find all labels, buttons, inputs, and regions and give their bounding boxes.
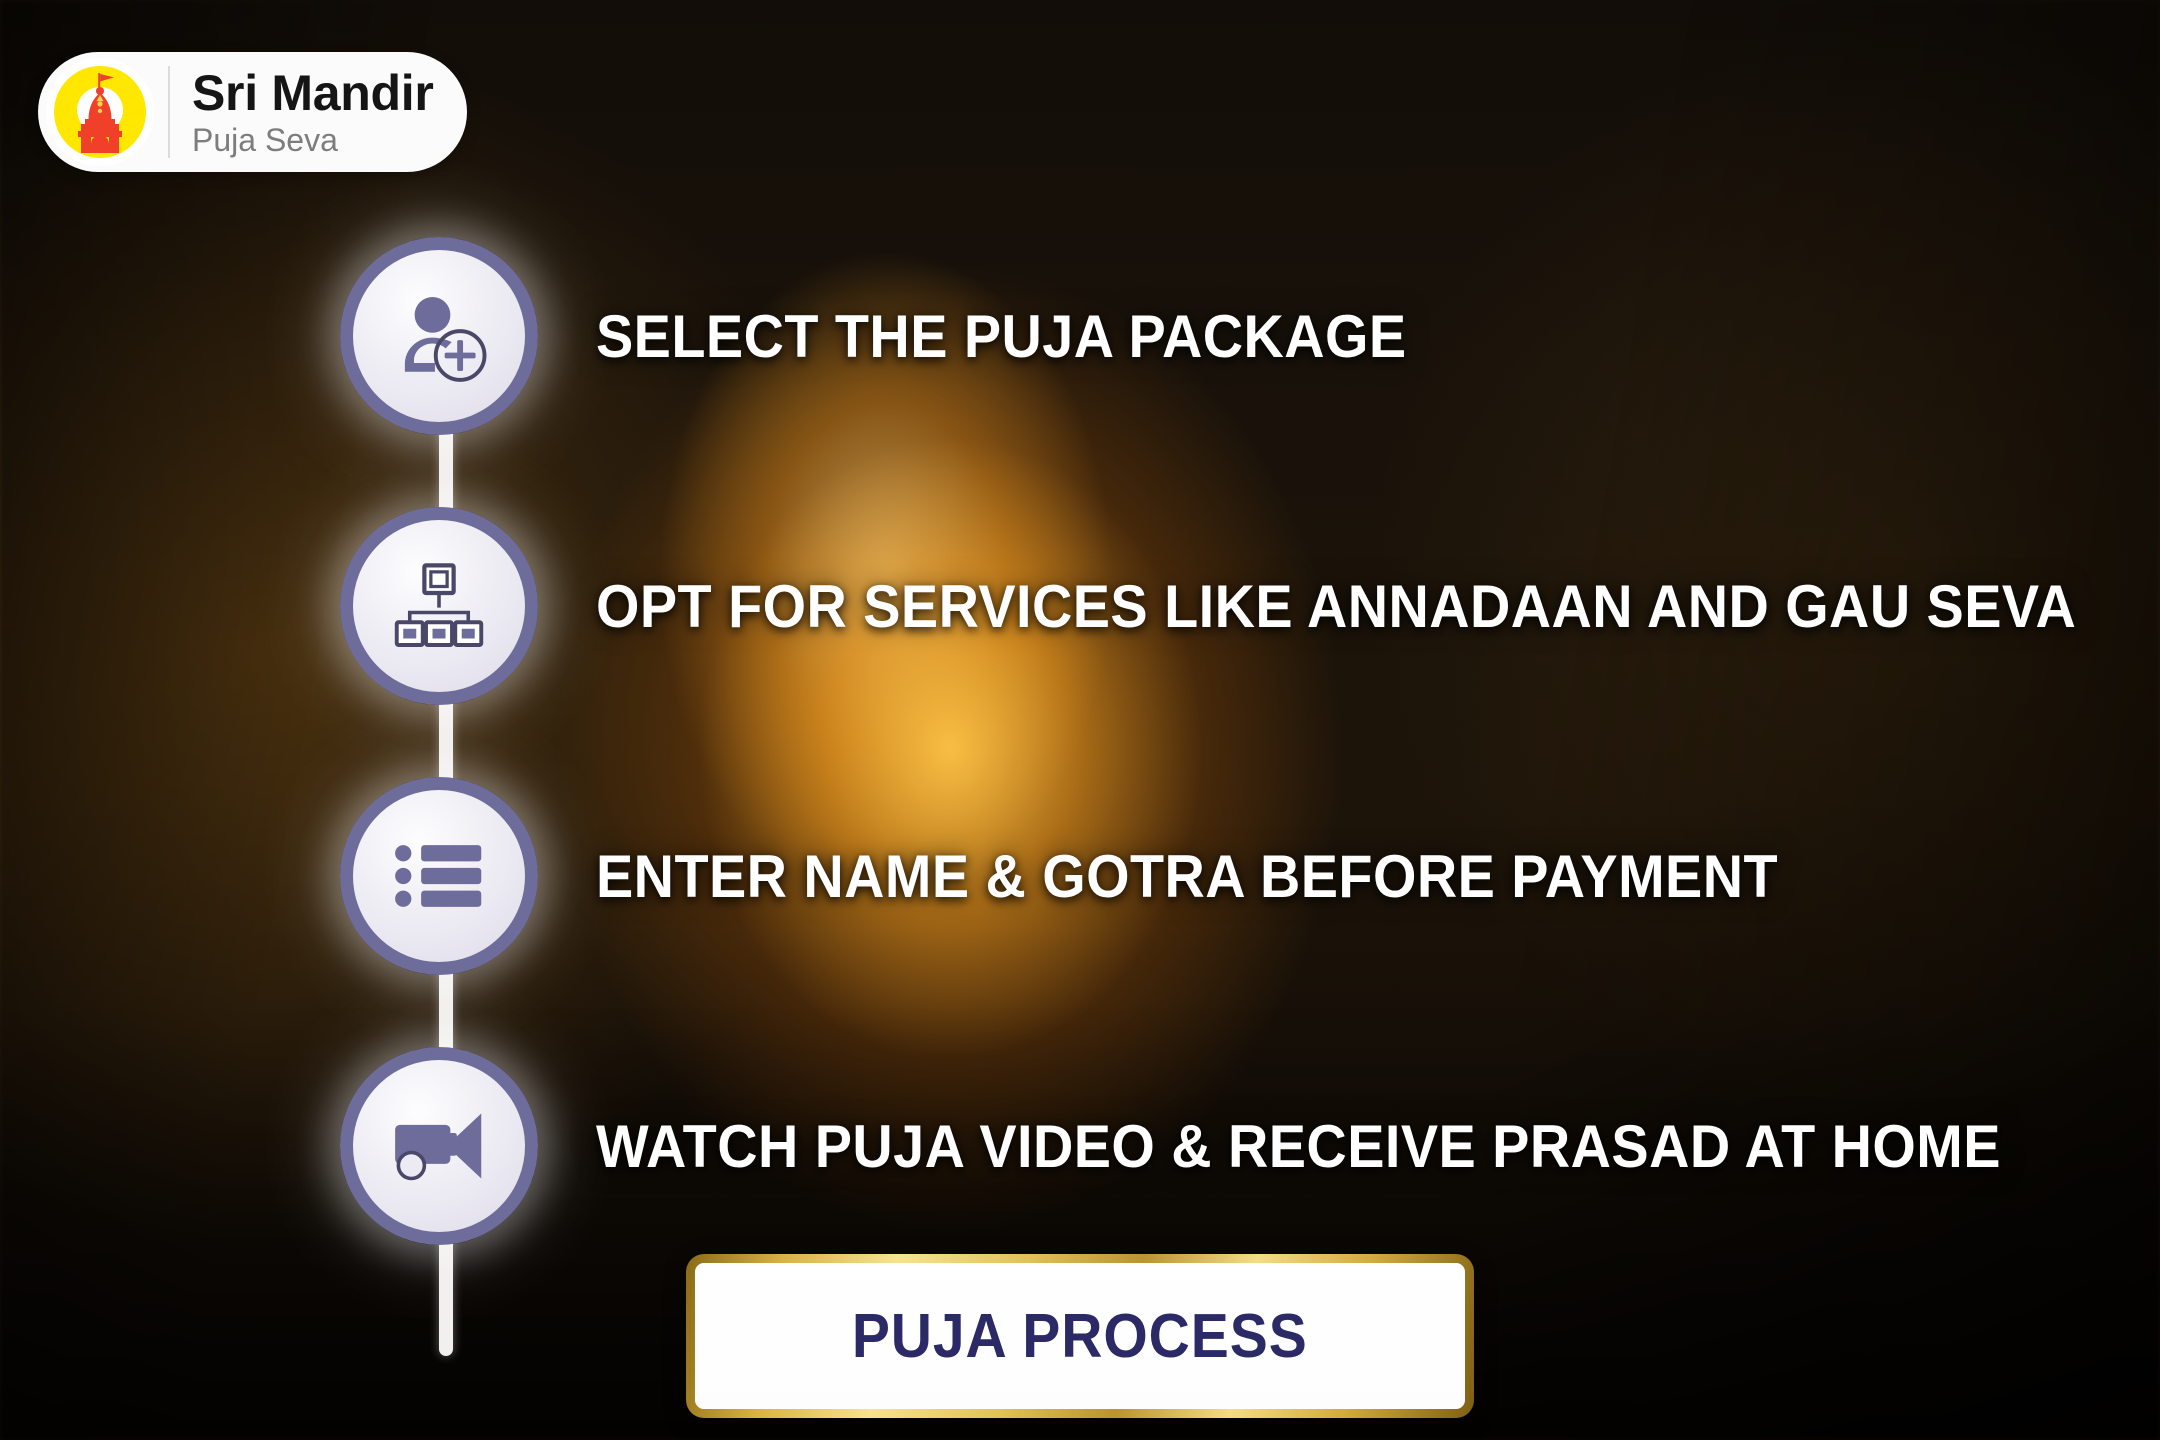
- brand-badge[interactable]: Sri Mandir Puja Seva: [38, 52, 467, 172]
- add-user-icon: [340, 237, 538, 435]
- step-label: WATCH PUJA VIDEO & RECEIVE PRASAD AT HOM…: [596, 1112, 2001, 1181]
- puja-process-button-label: PUJA PROCESS: [852, 1301, 1308, 1372]
- video-camera-icon: [340, 1047, 538, 1245]
- temple-logo-icon: [46, 58, 154, 166]
- step-item[interactable]: SELECT THE PUJA PACKAGE: [340, 236, 2100, 436]
- brand-subtitle: Puja Seva: [192, 124, 433, 156]
- step-item[interactable]: OPT FOR SERVICES LIKE ANNADAAN AND GAU S…: [340, 506, 2100, 706]
- step-label: OPT FOR SERVICES LIKE ANNADAAN AND GAU S…: [596, 572, 2076, 641]
- brand-title: Sri Mandir: [192, 68, 433, 118]
- step-item[interactable]: WATCH PUJA VIDEO & RECEIVE PRASAD AT HOM…: [340, 1046, 2100, 1246]
- sitemap-icon: [340, 507, 538, 705]
- step-label: ENTER NAME & GOTRA BEFORE PAYMENT: [596, 842, 1778, 911]
- puja-process-poster: Sri Mandir Puja Seva SE: [0, 0, 2160, 1440]
- steps-list: SELECT THE PUJA PACKAGE: [340, 236, 2100, 1246]
- badge-divider: [168, 66, 170, 158]
- bullet-list-icon: [340, 777, 538, 975]
- step-item[interactable]: ENTER NAME & GOTRA BEFORE PAYMENT: [340, 776, 2100, 976]
- puja-process-button[interactable]: PUJA PROCESS: [686, 1254, 1474, 1418]
- step-label: SELECT THE PUJA PACKAGE: [596, 302, 1407, 371]
